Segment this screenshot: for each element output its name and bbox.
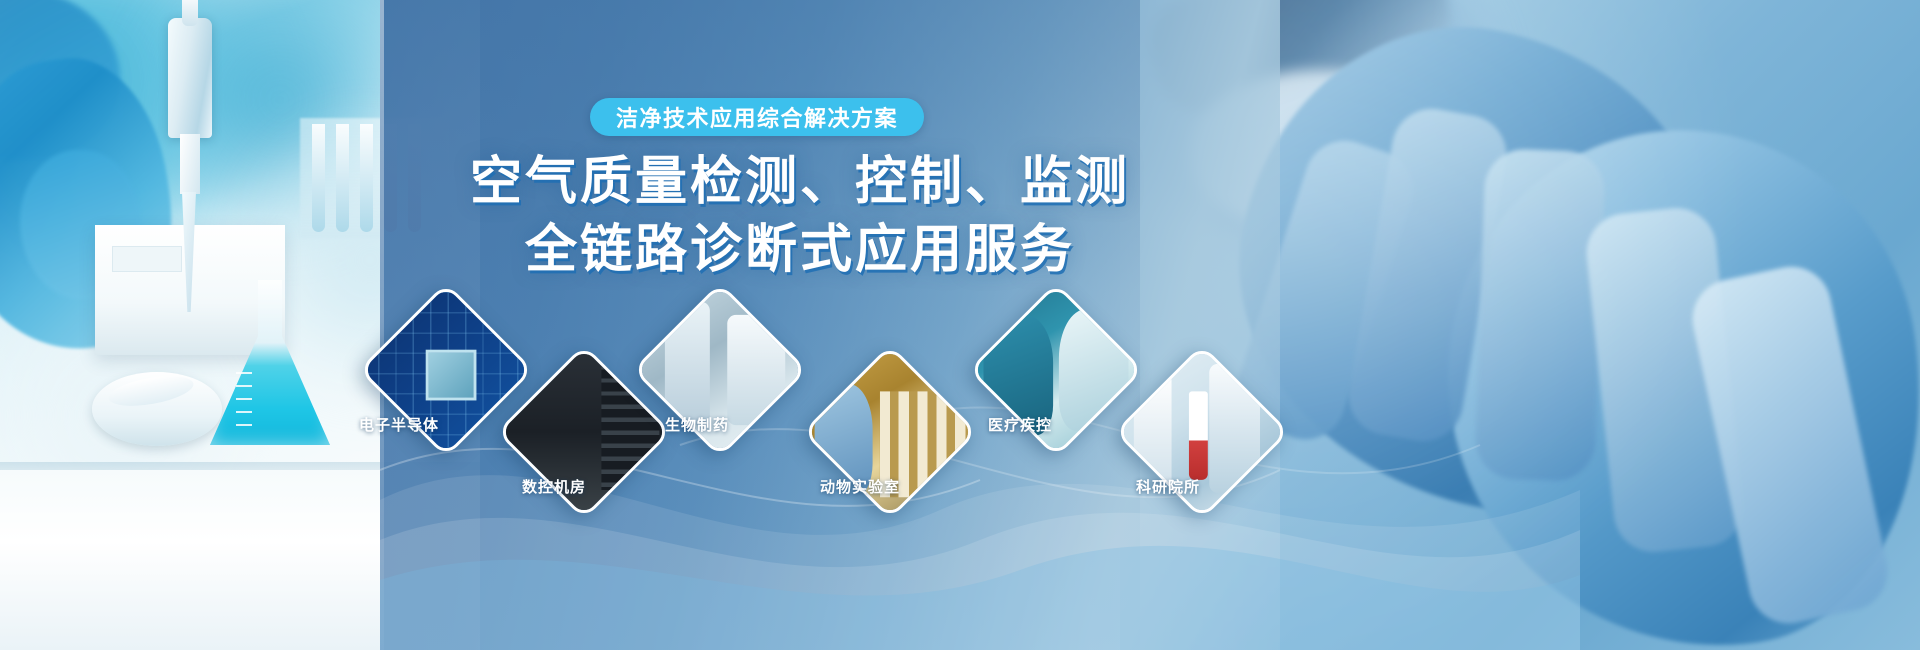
headline-line-1: 空气质量检测、控制、监测 [450,148,1150,216]
test-tube [336,124,349,232]
card-label-research-institute: 科研院所 [1136,476,1200,497]
card-label-biopharmaceutical: 生物制药 [665,414,729,435]
test-tube [360,124,373,232]
card-label-medical-disease-control: 医疗疾控 [988,414,1052,435]
sample-vial [1188,391,1207,480]
headline-block: 空气质量检测、控制、监测 全链路诊断式应用服务 [450,148,1150,284]
headline-line-2: 全链路诊断式应用服务 [450,216,1150,284]
card-label-electronics-semiconductor: 电子半导体 [359,414,439,435]
equipment-label-plate [112,246,182,272]
card-label-data-center: 数控机房 [522,476,586,497]
test-tube [312,124,325,232]
hero-banner: 洁净技术应用综合解决方案 空气质量检测、控制、监测 全链路诊断式应用服务 电子半… [0,0,1920,650]
industry-card-row: 电子半导体 数控机房 生物制药 动物实验室 医疗疾控 科研院所 [300,280,1320,640]
pipette-body [168,18,212,138]
flask-graduation-marks [236,372,252,434]
tagline-badge: 洁净技术应用综合解决方案 [590,98,924,136]
card-label-animal-laboratory: 动物实验室 [820,476,900,497]
pipette-neck [180,134,200,194]
pipette-plunger [182,0,198,26]
